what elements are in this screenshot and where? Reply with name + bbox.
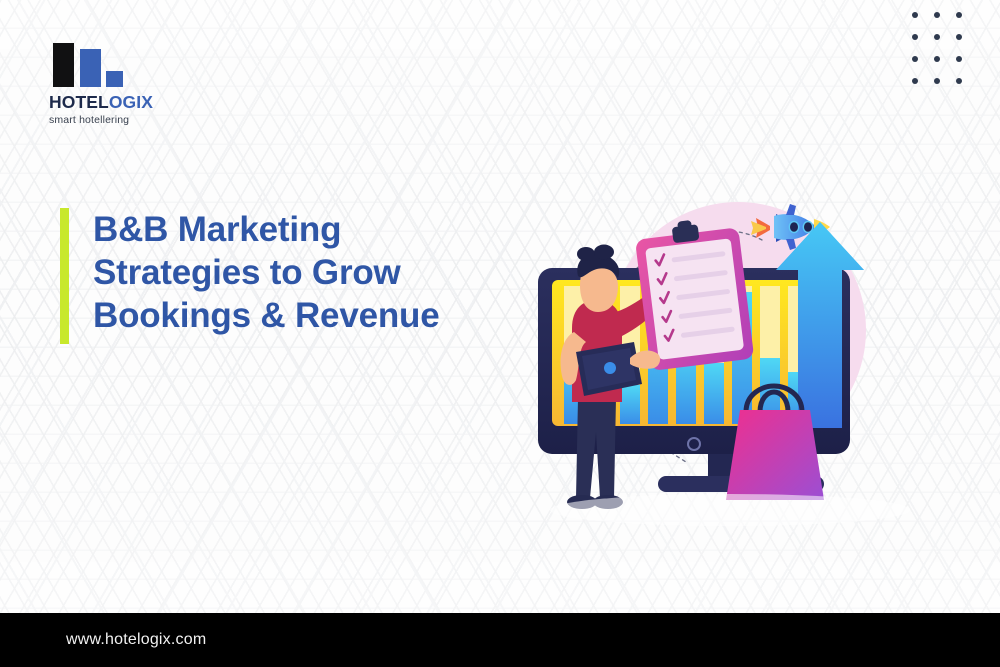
logo-word-part1: HOTEL [49, 92, 109, 112]
grid-dot [934, 12, 940, 18]
headline-block: B&B MarketingStrategies to GrowBookings … [60, 208, 439, 344]
grid-dot [912, 78, 918, 84]
logo-bar-blue [80, 49, 101, 87]
grid-dot [956, 34, 962, 40]
logo-square-blue [106, 71, 123, 87]
accent-bar [60, 208, 69, 344]
chart-bar [704, 363, 724, 424]
brand-logo[interactable]: HOTELOGIX smart hotellering [49, 43, 199, 126]
grid-dot [934, 78, 940, 84]
headline-line-2: Strategies to Grow [93, 253, 401, 292]
footer-website-url[interactable]: www.hotelogix.com [66, 631, 206, 649]
headline-line-3: Bookings & Revenue [93, 296, 439, 335]
page-title: B&B MarketingStrategies to GrowBookings … [93, 208, 439, 344]
headline-line-1: B&B Marketing [93, 210, 341, 249]
grid-dot [934, 56, 940, 62]
dot-grid-decoration [912, 12, 978, 100]
grid-dot [934, 34, 940, 40]
grid-dot [956, 78, 962, 84]
logo-wordmark: HOTELOGIX [49, 92, 199, 113]
footer-bar: www.hotelogix.com [0, 613, 1000, 667]
chart-bar [620, 385, 640, 424]
grid-dot [912, 56, 918, 62]
logo-mark-icon [53, 43, 129, 87]
grid-dot [912, 12, 918, 18]
hero-illustration [530, 180, 930, 540]
grid-dot [956, 56, 962, 62]
grid-dot [912, 34, 918, 40]
logo-bar-black [53, 43, 74, 87]
grid-dot [956, 12, 962, 18]
poster-canvas: HOTELOGIX smart hotellering B&B Marketin… [0, 0, 1000, 667]
logo-word-part2: OGIX [109, 92, 153, 112]
logo-tagline: smart hotellering [49, 114, 199, 126]
